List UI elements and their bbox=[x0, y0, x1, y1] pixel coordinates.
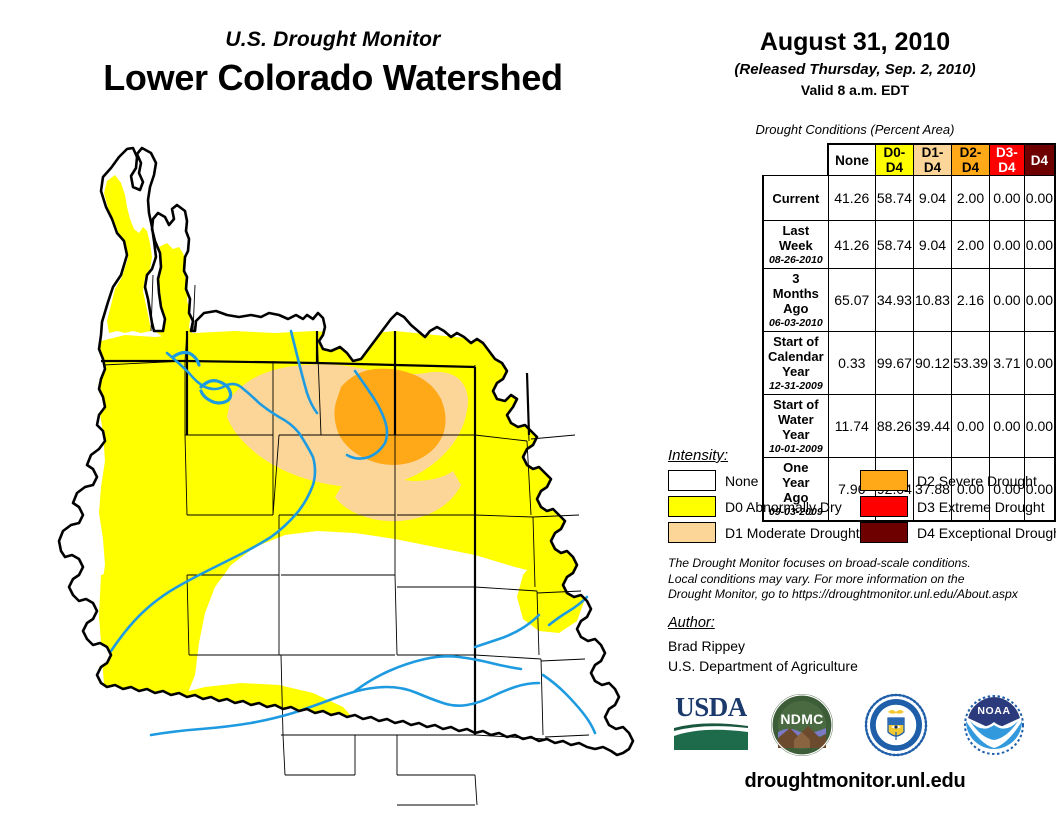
county-line bbox=[283, 735, 285, 775]
table-cell-value: 41.26 bbox=[828, 221, 875, 269]
legend-label: D0 Abnormally Dry bbox=[725, 499, 842, 515]
usdoc-seal bbox=[858, 688, 934, 767]
author-name: Brad Rippey bbox=[668, 636, 858, 656]
table-cell-value: 0.00 bbox=[990, 176, 1025, 221]
page-subtitle: U.S. Drought Monitor bbox=[18, 28, 648, 52]
logo-row: USDA NDMC bbox=[660, 688, 1050, 766]
legend-item: D3 Extreme Drought bbox=[860, 494, 1056, 519]
table-cell-value: 0.00 bbox=[951, 395, 989, 458]
table-cell-value: 65.07 bbox=[828, 269, 875, 332]
disclaimer-line-2: Local conditions may vary. For more info… bbox=[668, 572, 1048, 588]
table-row-header: Last Week08-26-2010 bbox=[763, 221, 828, 269]
table-row-date: 08-26-2010 bbox=[768, 254, 824, 266]
legend-swatch bbox=[668, 470, 716, 491]
ndmc-logo: NDMC bbox=[764, 688, 840, 767]
legend-label: D1 Moderate Drought bbox=[725, 525, 860, 541]
drought-map-svg bbox=[55, 135, 655, 825]
legend-column-left: NoneD0 Abnormally DryD1 Moderate Drought bbox=[668, 468, 860, 546]
legend-heading: Intensity: bbox=[668, 447, 728, 464]
page-title: Lower Colorado Watershed bbox=[18, 57, 648, 99]
table-row: Current41.2658.749.042.000.000.00 bbox=[763, 176, 1055, 221]
table-cell-value: 39.44 bbox=[913, 395, 951, 458]
table-cell-value: 58.74 bbox=[875, 221, 913, 269]
table-cell-value: 0.00 bbox=[1024, 176, 1055, 221]
table-col-header-d4: D4 bbox=[1024, 144, 1055, 176]
table-col-header-d0-d4: D0-D4 bbox=[875, 144, 913, 176]
table-cell-value: 0.33 bbox=[828, 332, 875, 395]
svg-text:NOAA: NOAA bbox=[977, 705, 1010, 717]
disclaimer-line-1: The Drought Monitor focuses on broad-sca… bbox=[668, 556, 1048, 572]
table-cell-value: 10.83 bbox=[913, 269, 951, 332]
county-line bbox=[475, 775, 477, 805]
table-cell-value: 0.00 bbox=[990, 395, 1025, 458]
table-col-header-d3-d4: D3-D4 bbox=[990, 144, 1025, 176]
table-row-date: 10-01-2009 bbox=[768, 443, 824, 455]
drought-area-d0 bbox=[507, 373, 571, 459]
legend-label: D4 Exceptional Drought bbox=[917, 525, 1056, 541]
table-cell-value: 0.00 bbox=[1024, 395, 1055, 458]
legend-swatch bbox=[860, 470, 908, 491]
report-date: August 31, 2010 bbox=[660, 28, 1050, 57]
table-cell-value: 2.16 bbox=[951, 269, 989, 332]
author-heading: Author: bbox=[668, 615, 715, 631]
date-block: August 31, 2010 (Released Thursday, Sep.… bbox=[660, 28, 1050, 98]
valid-time: Valid 8 a.m. EDT bbox=[660, 82, 1050, 98]
table-col-header-d1-d4: D1-D4 bbox=[913, 144, 951, 176]
table-cell-value: 0.00 bbox=[990, 221, 1025, 269]
drought-conditions-table: NoneD0-D4D1-D4D2-D4D3-D4D4 Current41.265… bbox=[762, 143, 1056, 522]
table-col-header-none: None bbox=[828, 144, 875, 176]
legend-item: D0 Abnormally Dry bbox=[668, 494, 860, 519]
table-cell-value: 9.04 bbox=[913, 221, 951, 269]
author-org: U.S. Department of Agriculture bbox=[668, 656, 858, 676]
legend-item: D4 Exceptional Drought bbox=[860, 520, 1056, 545]
legend-swatch bbox=[668, 496, 716, 517]
table-row: Start ofCalendar Year12-31-20090.3399.67… bbox=[763, 332, 1055, 395]
table-cell-value: 90.12 bbox=[913, 332, 951, 395]
table-cell-value: 0.00 bbox=[1024, 221, 1055, 269]
legend-column-right: D2 Severe DroughtD3 Extreme DroughtD4 Ex… bbox=[860, 468, 1056, 546]
table-header-row: NoneD0-D4D1-D4D2-D4D3-D4D4 bbox=[763, 144, 1055, 176]
table-row: 3 Months Ago06-03-201065.0734.9310.832.1… bbox=[763, 269, 1055, 332]
table-cell-value: 88.26 bbox=[875, 395, 913, 458]
table-cell-value: 34.93 bbox=[875, 269, 913, 332]
drought-map bbox=[55, 135, 655, 825]
table-cell-value: 3.71 bbox=[990, 332, 1025, 395]
table-cell-value: 9.04 bbox=[913, 176, 951, 221]
table-header: NoneD0-D4D1-D4D2-D4D3-D4D4 bbox=[763, 144, 1055, 176]
table-row-header: 3 Months Ago06-03-2010 bbox=[763, 269, 828, 332]
disclaimer-line-3: Drought Monitor, go to https://droughtmo… bbox=[668, 587, 1048, 603]
disclaimer-note: The Drought Monitor focuses on broad-sca… bbox=[668, 556, 1048, 603]
table-row: Start ofWater Year10-01-200911.7488.2639… bbox=[763, 395, 1055, 458]
table-col-header-d2-d4: D2-D4 bbox=[951, 144, 989, 176]
legend-swatch bbox=[668, 522, 716, 543]
table-cell-value: 2.00 bbox=[951, 221, 989, 269]
author-block: Brad Rippey U.S. Department of Agricultu… bbox=[668, 636, 858, 676]
svg-text:NDMC: NDMC bbox=[780, 711, 823, 727]
table-cell-value: 99.67 bbox=[875, 332, 913, 395]
table-corner-cell bbox=[763, 144, 828, 176]
drought-area-d0 bbox=[513, 465, 581, 547]
drought-monitor-page: U.S. Drought Monitor Lower Colorado Wate… bbox=[0, 0, 1056, 816]
usda-logo: USDA bbox=[668, 688, 754, 759]
title-block: U.S. Drought Monitor Lower Colorado Wate… bbox=[18, 28, 648, 99]
table-cell-value: 0.00 bbox=[990, 269, 1025, 332]
table-row-header: Start ofWater Year10-01-2009 bbox=[763, 395, 828, 458]
legend-item: D2 Severe Drought bbox=[860, 468, 1056, 493]
table-cell-value: 41.26 bbox=[828, 176, 875, 221]
legend-item: D1 Moderate Drought bbox=[668, 520, 860, 545]
table-caption: Drought Conditions (Percent Area) bbox=[660, 122, 1050, 137]
table-row-header: Start ofCalendar Year12-31-2009 bbox=[763, 332, 828, 395]
legend-swatch bbox=[860, 496, 908, 517]
table-cell-value: 0.00 bbox=[1024, 269, 1055, 332]
table-cell-value: 53.39 bbox=[951, 332, 989, 395]
legend-label: D2 Severe Drought bbox=[917, 473, 1037, 489]
table-cell-value: 0.00 bbox=[1024, 332, 1055, 395]
legend-item: None bbox=[668, 468, 860, 493]
table-cell-value: 11.74 bbox=[828, 395, 875, 458]
site-url: droughtmonitor.unl.edu bbox=[660, 770, 1050, 793]
release-date: (Released Thursday, Sep. 2, 2010) bbox=[660, 61, 1050, 78]
table-cell-value: 58.74 bbox=[875, 176, 913, 221]
legend-label: None bbox=[725, 473, 758, 489]
table-row-date: 12-31-2009 bbox=[768, 380, 824, 392]
noaa-logo: NOAA bbox=[956, 688, 1032, 767]
table-row-header: Current bbox=[763, 176, 828, 221]
table-row-date: 06-03-2010 bbox=[768, 317, 824, 329]
table-cell-value: 2.00 bbox=[951, 176, 989, 221]
table-row: Last Week08-26-201041.2658.749.042.000.0… bbox=[763, 221, 1055, 269]
legend-label: D3 Extreme Drought bbox=[917, 499, 1045, 515]
svg-text:USDA: USDA bbox=[675, 692, 748, 722]
legend-swatch bbox=[860, 522, 908, 543]
